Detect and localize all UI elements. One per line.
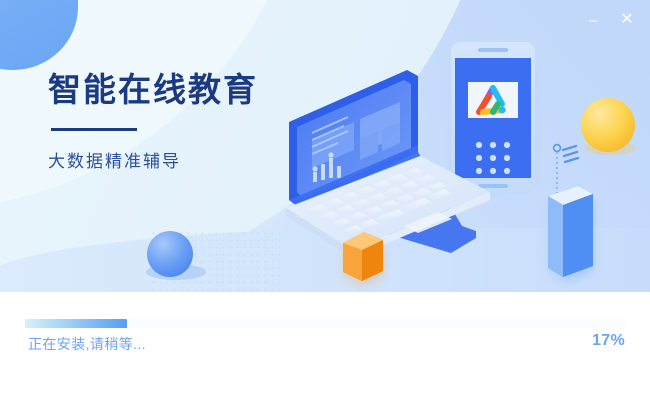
blue-book-icon xyxy=(548,186,593,277)
title-divider xyxy=(51,128,137,131)
progress-bar-fill xyxy=(25,319,127,328)
phone-app-dot-grid xyxy=(476,142,510,174)
installer-window: 智能在线教育 大数据精准辅导 – ✕ 正在安装,请稍等... 17% xyxy=(0,0,650,400)
page-subtitle: 大数据精准辅导 xyxy=(48,147,258,172)
install-status-text: 正在安装,请稍等... xyxy=(28,334,146,354)
page-title: 智能在线教育 xyxy=(48,72,258,108)
close-icon[interactable]: ✕ xyxy=(614,8,640,32)
window-controls: – ✕ xyxy=(580,8,640,32)
minimize-icon[interactable]: – xyxy=(580,8,606,32)
hero-banner: 智能在线教育 大数据精准辅导 – ✕ xyxy=(0,0,650,292)
blue-sphere-icon xyxy=(146,231,206,280)
yellow-sphere-icon xyxy=(581,98,636,155)
progress-section: 正在安装,请稍等... 17% xyxy=(0,292,650,400)
progress-percent-label: 17% xyxy=(592,332,625,350)
progress-bar-track xyxy=(25,319,625,328)
smartphone-icon xyxy=(451,42,535,194)
title-block: 智能在线教育 大数据精准辅导 xyxy=(48,72,258,172)
